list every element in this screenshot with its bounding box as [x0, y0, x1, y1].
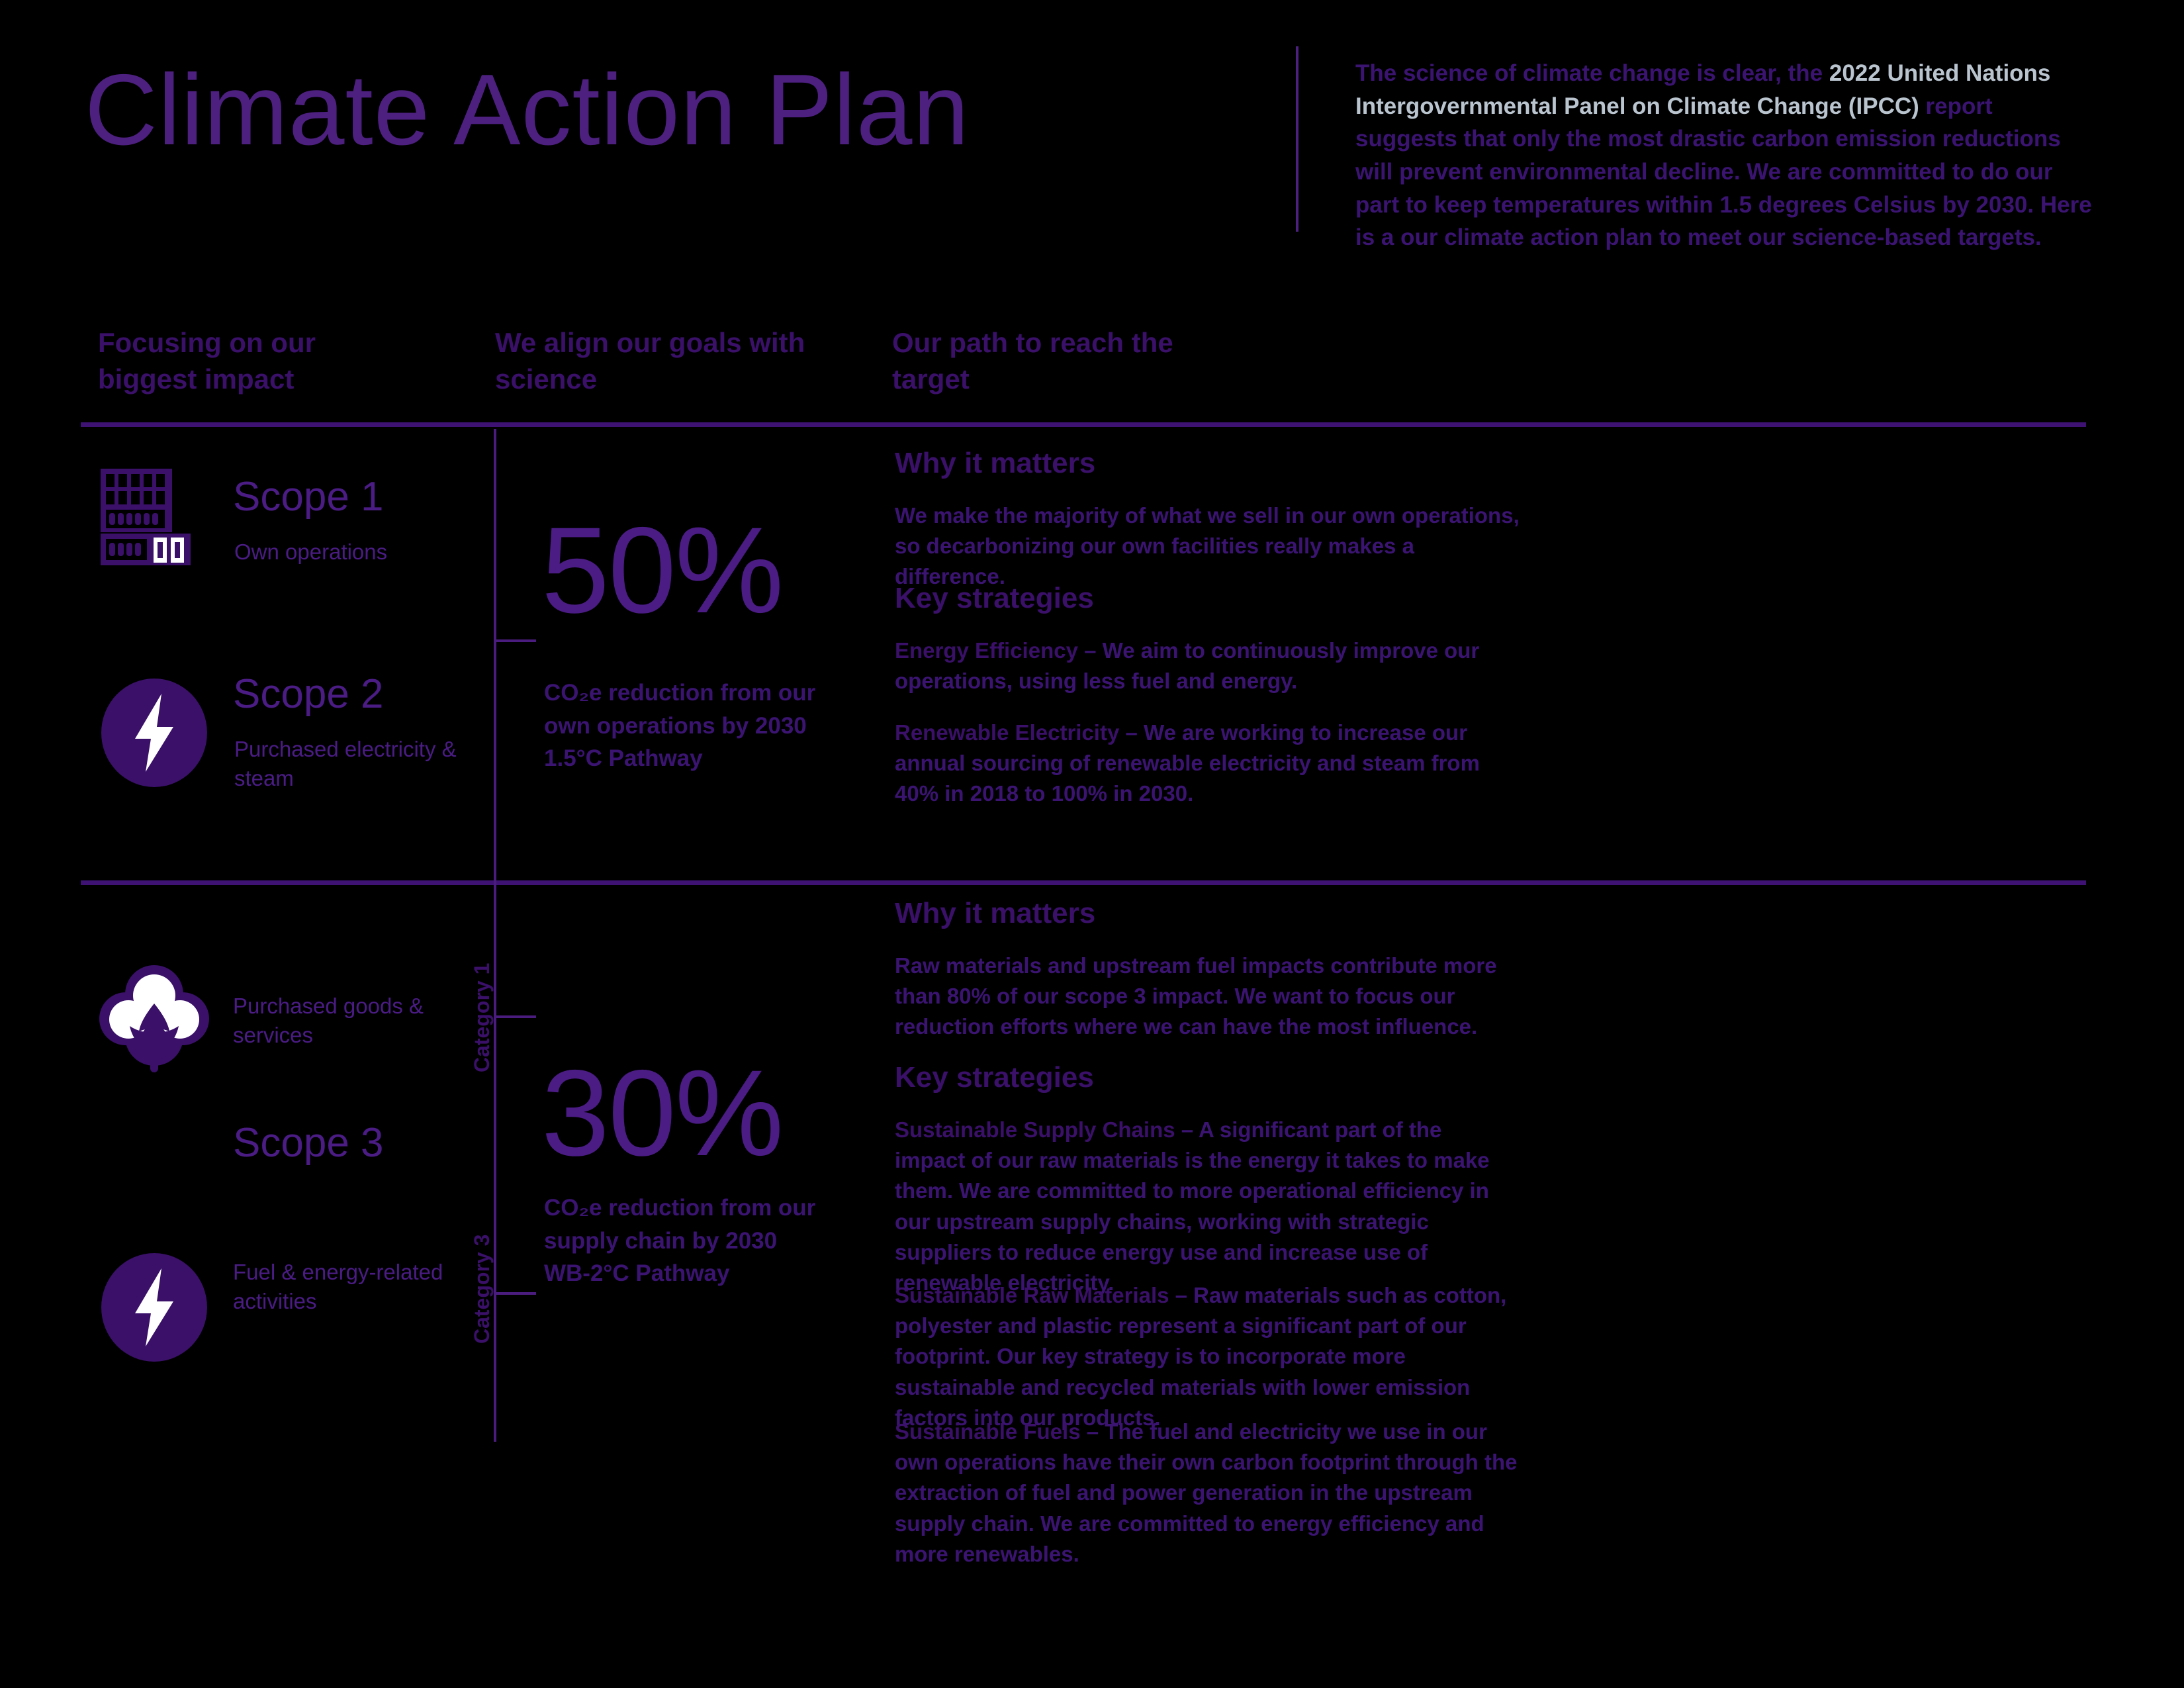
scope-2-title: Scope 2	[233, 674, 384, 715]
intro-text-pre: The science of climate change is clear, …	[1355, 60, 1829, 86]
page-title: Climate Action Plan	[85, 60, 970, 160]
section-divider-top	[81, 422, 2086, 427]
strategy-name: Energy Efficiency	[895, 638, 1078, 663]
bracket-tick-scope12	[495, 639, 536, 642]
scope3-strategy-sustainable-raw-materials: Sustainable Raw Materials – Raw material…	[895, 1280, 1517, 1433]
factory-icon	[99, 467, 192, 567]
scope12-why-body: We make the majority of what we sell in …	[895, 500, 1524, 592]
column-heading-path: Our path to reach the target	[892, 324, 1236, 398]
waterfall-chart-scope12	[1569, 437, 2019, 861]
category-1-label: Category 1	[470, 963, 494, 1072]
strategy-name: Sustainable Supply Chains	[895, 1117, 1175, 1142]
column-heading-science: We align our goals with science	[495, 324, 839, 398]
scope12-key-heading: Key strategies	[895, 584, 1094, 613]
lightning-bolt-circle-icon	[98, 677, 210, 789]
scope3-why-heading: Why it matters	[895, 899, 1095, 928]
waterfall-chart-scope3	[1569, 907, 2019, 1536]
target-percent-scope3: 30%	[541, 1053, 782, 1175]
strategy-name: Renewable Electricity	[895, 720, 1119, 745]
scope3-key-heading: Key strategies	[895, 1063, 1094, 1092]
strategy-text: – A significant part of the impact of ou…	[895, 1117, 1490, 1295]
scope12-strategy-energy-efficiency: Energy Efficiency – We aim to continuous…	[895, 635, 1524, 696]
scope-2-subtitle: Purchased electricity & steam	[234, 735, 499, 793]
scope-1-title: Scope 1	[233, 477, 384, 518]
scope-1-subtitle: Own operations	[234, 538, 499, 567]
target-percent-scope12: 50%	[541, 510, 782, 632]
scope3-strategy-sustainable-fuels: Sustainable Fuels – The fuel and electri…	[895, 1417, 1524, 1570]
category-3-label: Category 3	[470, 1235, 494, 1344]
scope3-why-body: Raw materials and upstream fuel impacts …	[895, 951, 1524, 1043]
scope12-strategy-renewable-electricity: Renewable Electricity – We are working t…	[895, 718, 1524, 810]
scope-3-item-a-label: Purchased goods & services	[233, 992, 498, 1050]
cotton-boll-icon	[98, 962, 210, 1085]
intro-paragraph: The science of climate change is clear, …	[1355, 57, 2097, 254]
column-heading-impact: Focusing on our biggest impact	[98, 324, 376, 398]
scope12-why-heading: Why it matters	[895, 449, 1095, 478]
page-header: Climate Action Plan The science of clima…	[0, 0, 2184, 291]
strategy-name: Sustainable Raw Materials	[895, 1283, 1169, 1307]
section-divider-middle	[81, 880, 2086, 885]
header-divider	[1296, 46, 1298, 232]
bracket-tick-category1	[495, 1015, 536, 1018]
scope-3-item-b-label: Fuel & energy-related activities	[233, 1258, 511, 1316]
scope-3-title: Scope 3	[233, 1123, 384, 1164]
strategy-name: Sustainable Fuels	[895, 1419, 1081, 1444]
target-description-scope12: CO₂e reduction from our own operations b…	[544, 677, 829, 775]
scope3-strategy-sustainable-supply-chains: Sustainable Supply Chains – A significan…	[895, 1115, 1517, 1298]
lightning-bolt-circle-icon	[98, 1251, 210, 1364]
target-description-scope3: CO₂e reduction from our supply chain by …	[544, 1192, 829, 1290]
